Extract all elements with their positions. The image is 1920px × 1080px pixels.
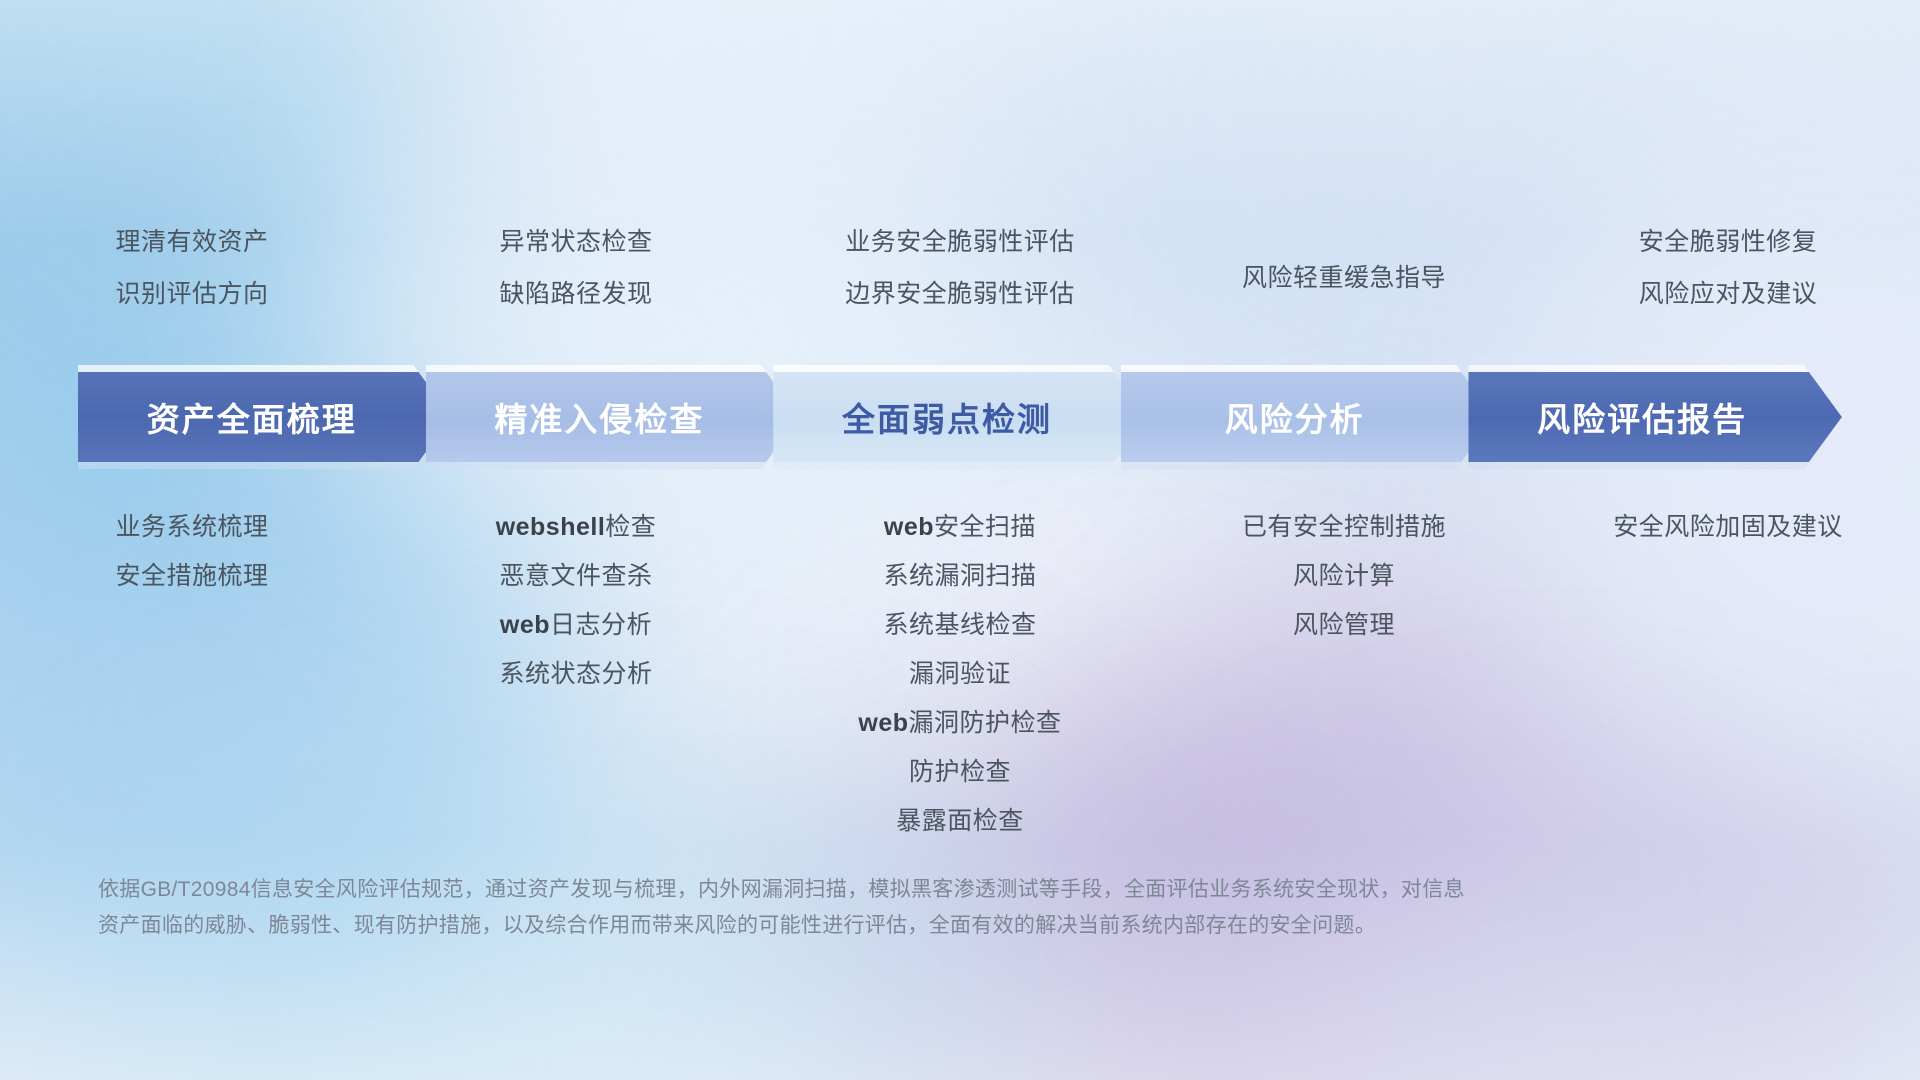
top-item: 风险应对及建议 xyxy=(1639,282,1818,307)
bottom-item-text: 业务系统梳理 xyxy=(115,513,268,541)
bottom-item: 风险计算 xyxy=(1293,564,1395,589)
bottom-item: web安全扫描 xyxy=(884,515,1036,540)
footer-description: 依据GB/T20984信息安全风险评估规范，通过资产发现与梳理，内外网漏洞扫描，… xyxy=(98,872,1608,944)
bottom-item: 系统基线检查 xyxy=(883,613,1036,638)
bottom-item-text: 系统漏洞扫描 xyxy=(883,562,1036,590)
top-items-stage-4: 风险轻重缓急指导 xyxy=(1152,230,1536,334)
top-items-stage-5: 安全脆弱性修复 风险应对及建议 xyxy=(1536,230,1920,334)
stage-arrow-5[interactable]: 风险评估报告 xyxy=(1468,365,1842,469)
bottom-item: 恶意文件查杀 xyxy=(499,564,652,589)
top-items-stage-2: 异常状态检查 缺陷路径发现 xyxy=(384,230,768,334)
bottom-item: web日志分析 xyxy=(500,613,652,638)
bottom-items-stage-4: 已有安全控制措施 风险计算 风险管理 xyxy=(1152,515,1536,858)
bottom-item-text: 系统状态分析 xyxy=(499,660,652,688)
bottom-item: 系统漏洞扫描 xyxy=(883,564,1036,589)
bottom-items-stage-2: webshell检查 恶意文件查杀 web日志分析 系统状态分析 xyxy=(384,515,768,858)
top-item: 边界安全脆弱性评估 xyxy=(845,282,1075,307)
bottom-item-text: 日志分析 xyxy=(550,611,652,639)
bottom-item: 安全风险加固及建议 xyxy=(1613,515,1843,540)
bottom-item-text: 检查 xyxy=(605,513,656,541)
bottom-items-stage-5: 安全风险加固及建议 xyxy=(1536,515,1920,858)
footer-line-2: 资产面临的威胁、脆弱性、现有防护措施，以及综合作用而带来风险的可能性进行评估，全… xyxy=(98,908,1608,944)
bottom-item-text: 安全风险加固及建议 xyxy=(1613,513,1843,541)
bottom-item: webshell检查 xyxy=(496,515,657,540)
top-item: 缺陷路径发现 xyxy=(499,282,652,307)
bottom-items-row: 业务系统梳理 安全措施梳理 webshell检查 恶意文件查杀 web日志分析 … xyxy=(0,515,1920,858)
top-items-row: 理清有效资产 识别评估方向 异常状态检查 缺陷路径发现 业务安全脆弱性评估 边界… xyxy=(0,230,1920,334)
bottom-item-text: 系统基线检查 xyxy=(883,611,1036,639)
bottom-item: 系统状态分析 xyxy=(499,662,652,687)
stage-label: 资产全面梳理 xyxy=(147,393,383,441)
footer-line-1: 依据GB/T20984信息安全风险评估规范，通过资产发现与梳理，内外网漏洞扫描，… xyxy=(98,872,1608,908)
bottom-item-text: 风险计算 xyxy=(1293,562,1395,590)
bottom-item: 风险管理 xyxy=(1293,613,1395,638)
stage-label: 全面弱点检测 xyxy=(842,393,1078,441)
stage-arrow-4[interactable]: 风险分析 xyxy=(1121,365,1495,469)
bottom-items-stage-1: 业务系统梳理 安全措施梳理 xyxy=(0,515,384,858)
stage-label: 风险评估报告 xyxy=(1537,393,1773,441)
bottom-item: 业务系统梳理 xyxy=(115,515,268,540)
stage-arrow-2[interactable]: 精准入侵检查 xyxy=(426,365,800,469)
top-item: 识别评估方向 xyxy=(115,282,268,307)
process-diagram: 理清有效资产 识别评估方向 异常状态检查 缺陷路径发现 业务安全脆弱性评估 边界… xyxy=(0,0,1920,1080)
bottom-item: 已有安全控制措施 xyxy=(1242,515,1446,540)
bottom-item-text: 暴露面检查 xyxy=(896,807,1024,835)
stage-arrow-3[interactable]: 全面弱点检测 xyxy=(773,365,1147,469)
bottom-item-text: 风险管理 xyxy=(1293,611,1395,639)
bottom-item: 安全措施梳理 xyxy=(115,564,268,589)
bottom-item-strong: web xyxy=(500,611,550,639)
top-items-stage-3: 业务安全脆弱性评估 边界安全脆弱性评估 xyxy=(768,230,1152,334)
top-item: 异常状态检查 xyxy=(499,230,652,255)
bottom-item-text: 漏洞防护检查 xyxy=(909,709,1062,737)
bottom-item-text: 已有安全控制措施 xyxy=(1242,513,1446,541)
top-item: 风险轻重缓急指导 xyxy=(1242,266,1446,291)
bottom-item-text: 安全扫描 xyxy=(934,513,1036,541)
bottom-item-text: 恶意文件查杀 xyxy=(499,562,652,590)
bottom-item-strong: webshell xyxy=(496,513,606,541)
top-item: 安全脆弱性修复 xyxy=(1639,230,1818,255)
bottom-item-text: 漏洞验证 xyxy=(909,660,1011,688)
top-item: 理清有效资产 xyxy=(115,230,268,255)
bottom-item-strong: web xyxy=(858,709,908,737)
bottom-item: 防护检查 xyxy=(909,760,1011,785)
stage-label: 精准入侵检查 xyxy=(494,393,730,441)
top-item: 业务安全脆弱性评估 xyxy=(845,230,1075,255)
bottom-item-text: 安全措施梳理 xyxy=(115,562,268,590)
bottom-items-stage-3: web安全扫描 系统漏洞扫描 系统基线检查 漏洞验证 web漏洞防护检查 防护检… xyxy=(768,515,1152,858)
bottom-item: 漏洞验证 xyxy=(909,662,1011,687)
top-items-stage-1: 理清有效资产 识别评估方向 xyxy=(0,230,384,334)
stage-arrow-1[interactable]: 资产全面梳理 xyxy=(78,365,452,469)
bottom-item: 暴露面检查 xyxy=(896,809,1024,834)
bottom-item-strong: web xyxy=(884,513,934,541)
stage-arrow-band: 资产全面梳理 精准入侵检查 全面弱点检测 风险分析 风险评估报告 xyxy=(78,365,1842,469)
bottom-item: web漏洞防护检查 xyxy=(858,711,1061,736)
stage-label: 风险分析 xyxy=(1225,393,1391,441)
bottom-item-text: 防护检查 xyxy=(909,758,1011,786)
